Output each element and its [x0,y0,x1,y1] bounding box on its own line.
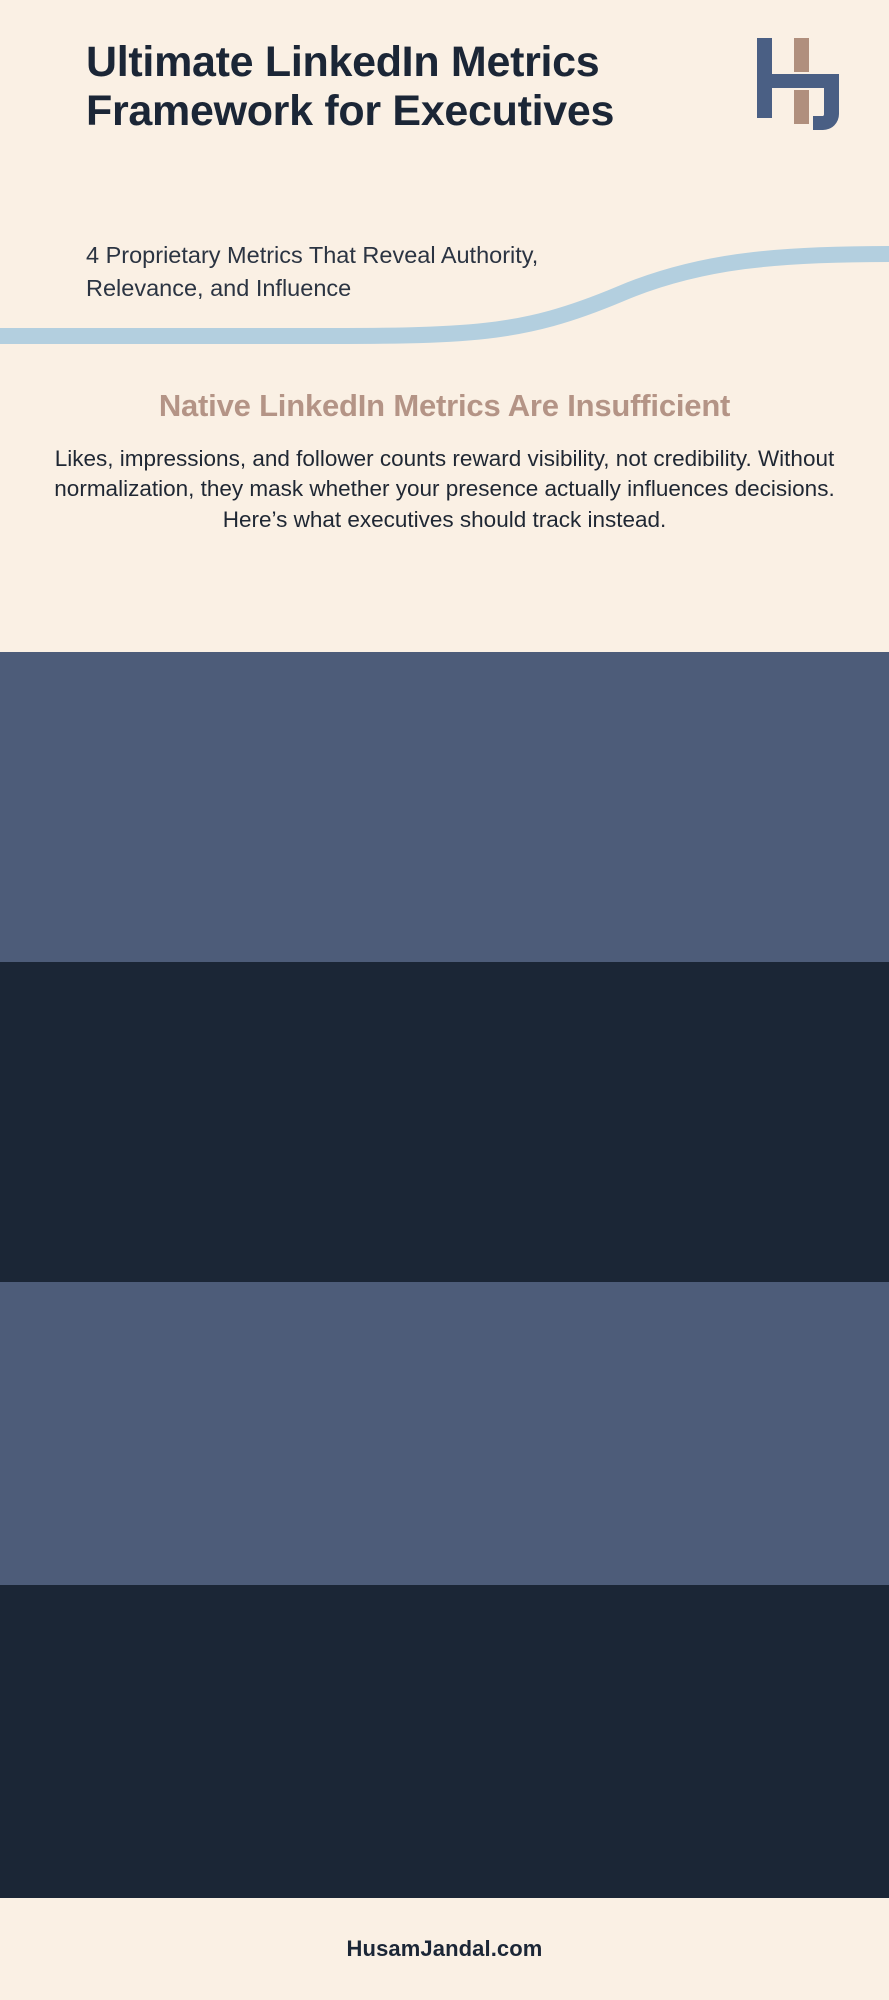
intro-section: Native LinkedIn Metrics Are Insufficient… [0,388,889,535]
metric-band-3: 3 Follower Conversion Ratio (FCR) Releva… [0,1282,889,1585]
header: Ultimate LinkedIn Metrics Framework for … [0,0,889,372]
metric-band-1: 1 Content Efficiency Score (CES) Quality… [0,652,889,962]
hj-monogram-logo [751,30,857,138]
infographic-page: Ultimate LinkedIn Metrics Framework for … [0,0,889,2000]
intro-heading: Native LinkedIn Metrics Are Insufficient [25,388,865,424]
footer: HusamJandal.com [0,1898,889,2000]
intro-body: Likes, impressions, and follower counts … [39,444,851,535]
metric-band-2: 2 Curiosity Rate (CR) Perceived authorit… [0,962,889,1282]
page-title: Ultimate LinkedIn Metrics Framework for … [86,38,746,135]
page-subtitle: 4 Proprietary Metrics That Reveal Author… [86,239,646,306]
metric-band-4: 4 Resonance Rate (RR) Credibility and re… [0,1585,889,1898]
footer-website: HusamJandal.com [347,1936,543,1962]
